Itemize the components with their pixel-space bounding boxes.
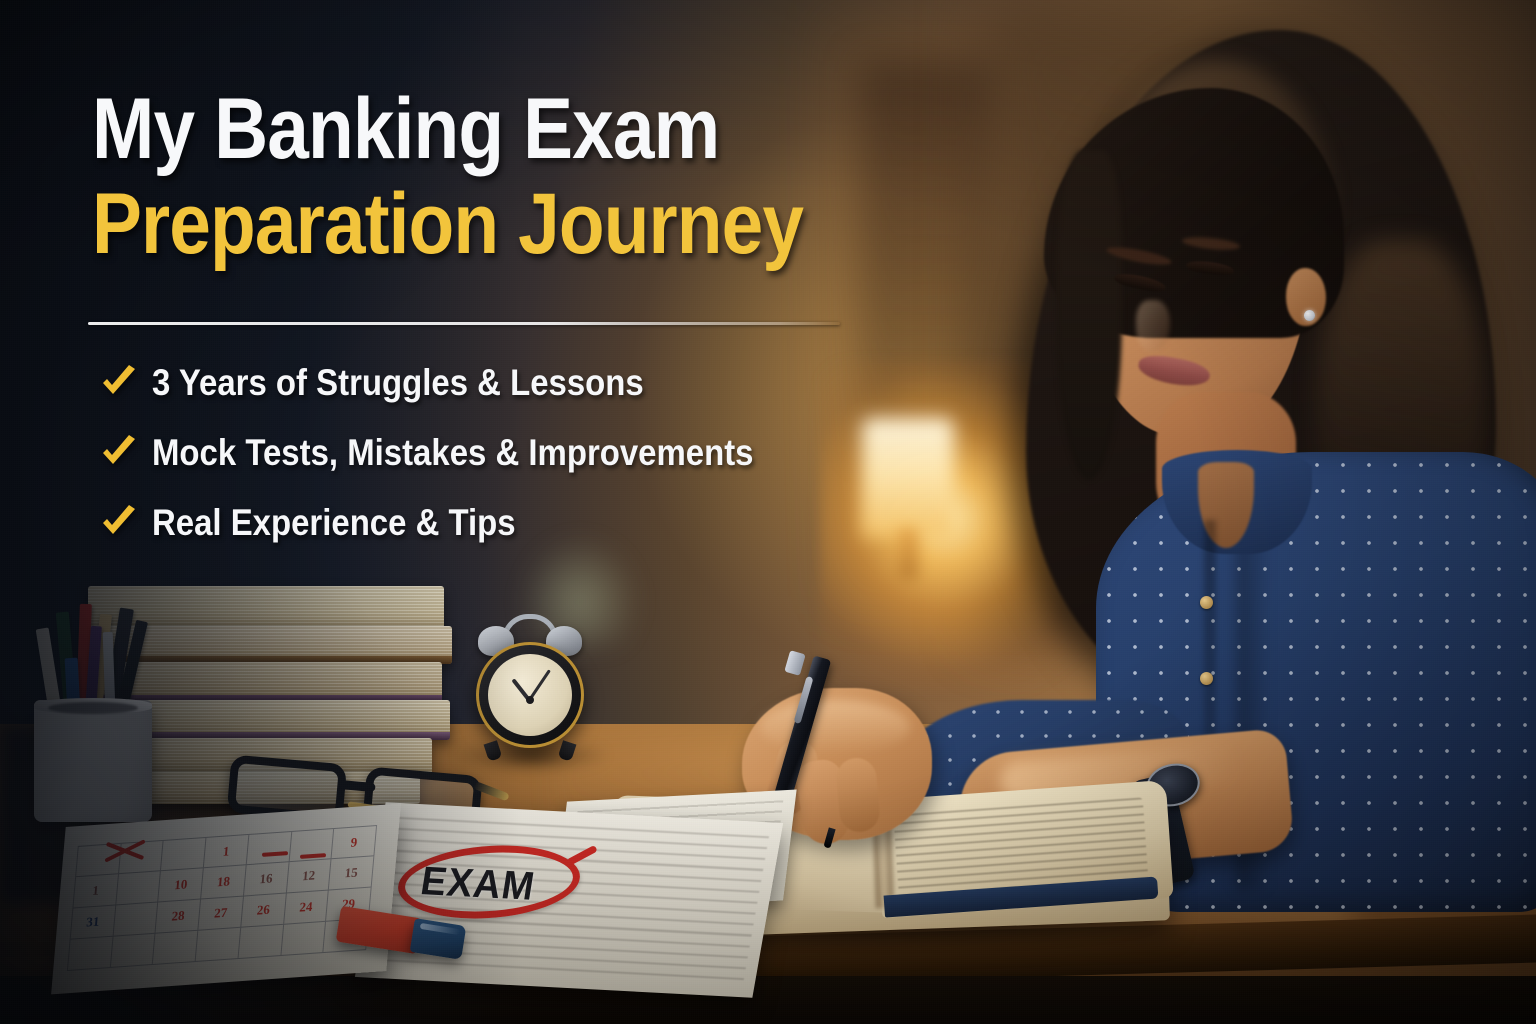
alarm-clock-foot-left	[484, 740, 503, 761]
checkmark-icon	[96, 430, 142, 476]
calendar-cell	[153, 931, 198, 964]
calendar-cell: 27	[199, 896, 244, 929]
calendar-cell	[196, 928, 241, 961]
list-item: Mock Tests, Mistakes & Improvements	[96, 418, 916, 488]
calendar-cell	[161, 838, 206, 870]
book	[92, 662, 442, 702]
clock-center-pin	[526, 696, 534, 704]
calendar-cell: 1	[72, 874, 118, 907]
calendar-cell	[247, 832, 292, 864]
blouse-button	[1200, 596, 1213, 609]
promo-banner: EXAM 1 9 1 10 18 16 12 15 31 28 27	[0, 0, 1536, 1024]
calendar-cell: 24	[284, 891, 329, 924]
checkmark-icon	[96, 500, 142, 546]
bullet-list: 3 Years of Struggles & Lessons Mock Test…	[96, 348, 916, 558]
calendar-cell: 12	[287, 859, 332, 892]
checkmark-icon	[96, 360, 142, 406]
calendar-cell: 15	[329, 856, 374, 889]
calendar-cell	[238, 925, 283, 958]
headline-block: My Banking Exam Preparation Journey	[92, 88, 872, 265]
hair-strand	[1056, 150, 1122, 480]
calendar-cell: 28	[156, 899, 201, 932]
calendar-cell: 9	[332, 826, 377, 858]
calendar-cell	[111, 934, 156, 967]
calendar-cell: 16	[244, 862, 289, 895]
calendar-cell	[116, 871, 161, 904]
calendar-cell: 31	[70, 905, 116, 938]
blouse-button	[1200, 672, 1213, 685]
list-item: 3 Years of Struggles & Lessons	[96, 348, 916, 418]
list-item-label: Mock Tests, Mistakes & Improvements	[152, 432, 753, 474]
middle-finger	[835, 756, 881, 833]
calendar-x-mark-icon	[103, 834, 146, 867]
calendar-cell	[281, 922, 326, 955]
page-title-line2: Preparation Journey	[92, 183, 771, 266]
calendar-cell: 1	[204, 835, 249, 867]
calendar-cell	[67, 937, 113, 970]
pen-cup	[34, 700, 152, 822]
pen-cup-interior	[48, 702, 138, 714]
alarm-clock	[470, 612, 590, 762]
calendar-cell: 26	[241, 893, 286, 926]
earring-stud-icon	[1304, 310, 1315, 321]
page-title-line1: My Banking Exam	[92, 88, 771, 171]
calendar-cell: 10	[159, 868, 204, 901]
list-item: Real Experience & Tips	[96, 488, 916, 558]
list-item-label: Real Experience & Tips	[152, 502, 516, 544]
list-item-label: 3 Years of Struggles & Lessons	[152, 362, 644, 404]
calendar-cell	[113, 902, 158, 935]
calendar-cell: 18	[201, 865, 246, 898]
divider	[88, 322, 840, 325]
alarm-clock-foot-right	[558, 740, 577, 761]
